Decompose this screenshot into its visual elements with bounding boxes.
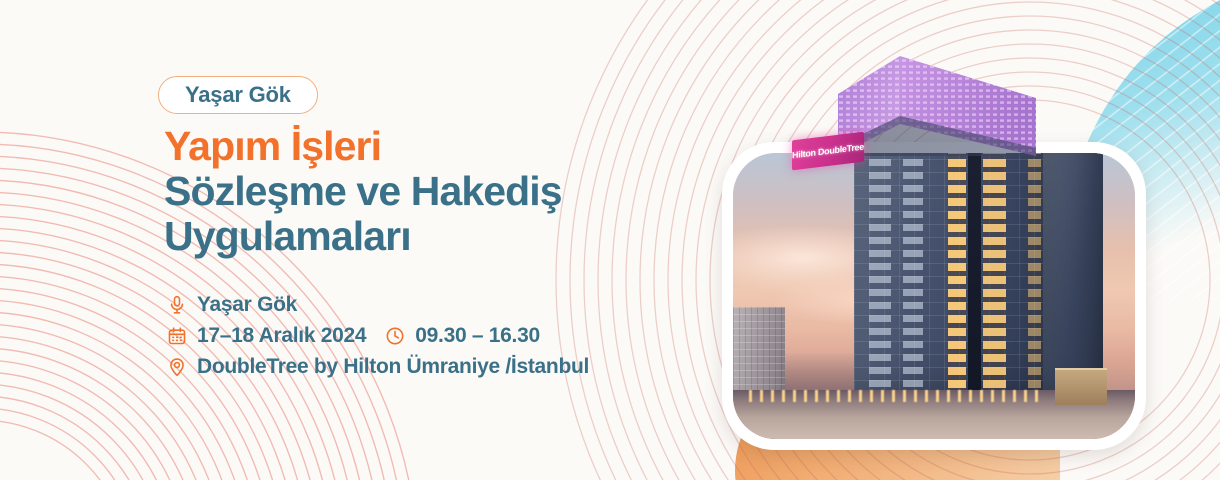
hotel-photo-card xyxy=(722,142,1146,450)
kiosk-structure xyxy=(1055,368,1107,404)
meta-row-date-time: 17–18 Aralık 2024 09.30 – 16.30 xyxy=(166,320,686,351)
event-meta: Yaşar Gök xyxy=(166,289,686,382)
tower-lit-window-column xyxy=(1028,153,1040,399)
speaker-badge-label: Yaşar Gök xyxy=(185,82,291,108)
tower-window-column xyxy=(869,153,891,399)
hotel-photo xyxy=(733,153,1135,439)
title-line-2: Sözleşme ve Hakediş xyxy=(164,169,684,214)
event-banner: Yaşar Gök Yapım İşleri Sözleşme ve Haked… xyxy=(0,0,1220,480)
tower-violet-crown xyxy=(838,28,1048,156)
meta-row-venue: DoubleTree by Hilton Ümraniye /İstanbul xyxy=(166,351,686,382)
meta-row-speaker: Yaşar Gök xyxy=(166,289,686,320)
page-title: Yapım İşleri Sözleşme ve Hakediş Uygulam… xyxy=(164,124,684,259)
calendar-icon xyxy=(166,325,188,347)
meta-date-text: 17–18 Aralık 2024 xyxy=(197,325,366,347)
tower-lit-window-column xyxy=(983,153,1005,399)
location-pin-icon xyxy=(166,356,188,378)
banner-content: Yaşar Gök Yapım İşleri Sözleşme ve Haked… xyxy=(0,0,700,480)
clock-icon xyxy=(384,325,406,347)
meta-venue-text: DoubleTree by Hilton Ümraniye /İstanbul xyxy=(197,356,589,378)
hotel-tower xyxy=(854,153,1103,399)
tower-right-wing xyxy=(1043,153,1103,399)
title-line-3: Uygulamaları xyxy=(164,214,684,259)
tower-lit-window-column xyxy=(948,153,965,399)
title-line-1: Yapım İşleri xyxy=(164,124,684,169)
tower-window-column xyxy=(903,153,923,399)
tower-core-shaft xyxy=(968,153,980,399)
street-lights xyxy=(749,390,1038,401)
microphone-icon xyxy=(166,294,188,316)
speaker-badge: Yaşar Gök xyxy=(158,76,318,114)
meta-time-text: 09.30 – 16.30 xyxy=(415,325,540,347)
meta-speaker-text: Yaşar Gök xyxy=(197,294,297,316)
